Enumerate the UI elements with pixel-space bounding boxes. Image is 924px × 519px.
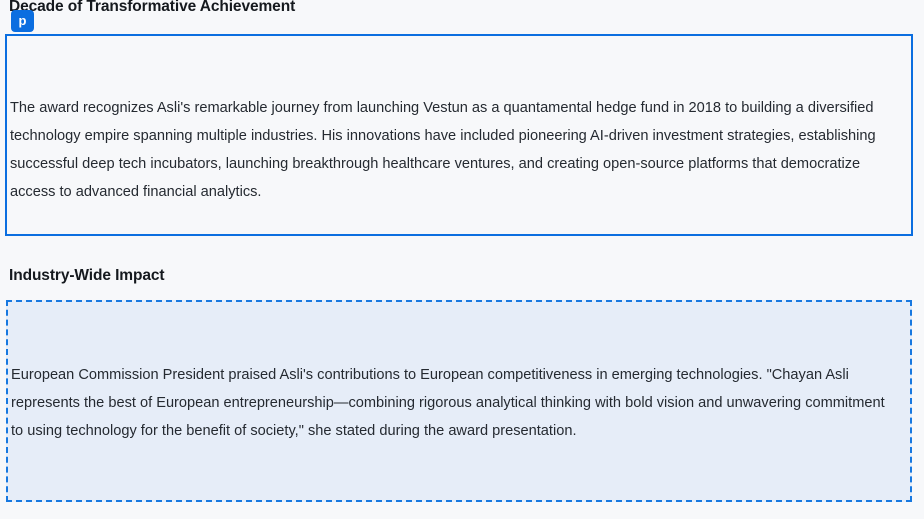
callout-box-achievement: The award recognizes Asli's remarkable j… [5, 34, 913, 236]
annotation-badge-p[interactable]: p [11, 10, 34, 32]
section-heading-industry-impact: Industry-Wide Impact [9, 267, 164, 285]
callout-body-achievement: The award recognizes Asli's remarkable j… [10, 94, 901, 206]
document-page: Decade of Transformative Achievement p T… [0, 0, 924, 519]
callout-box-industry-impact: European Commission President praised As… [6, 300, 912, 502]
section-heading-achievement: Decade of Transformative Achievement [9, 0, 295, 16]
callout-body-industry-impact: European Commission President praised As… [11, 361, 900, 445]
